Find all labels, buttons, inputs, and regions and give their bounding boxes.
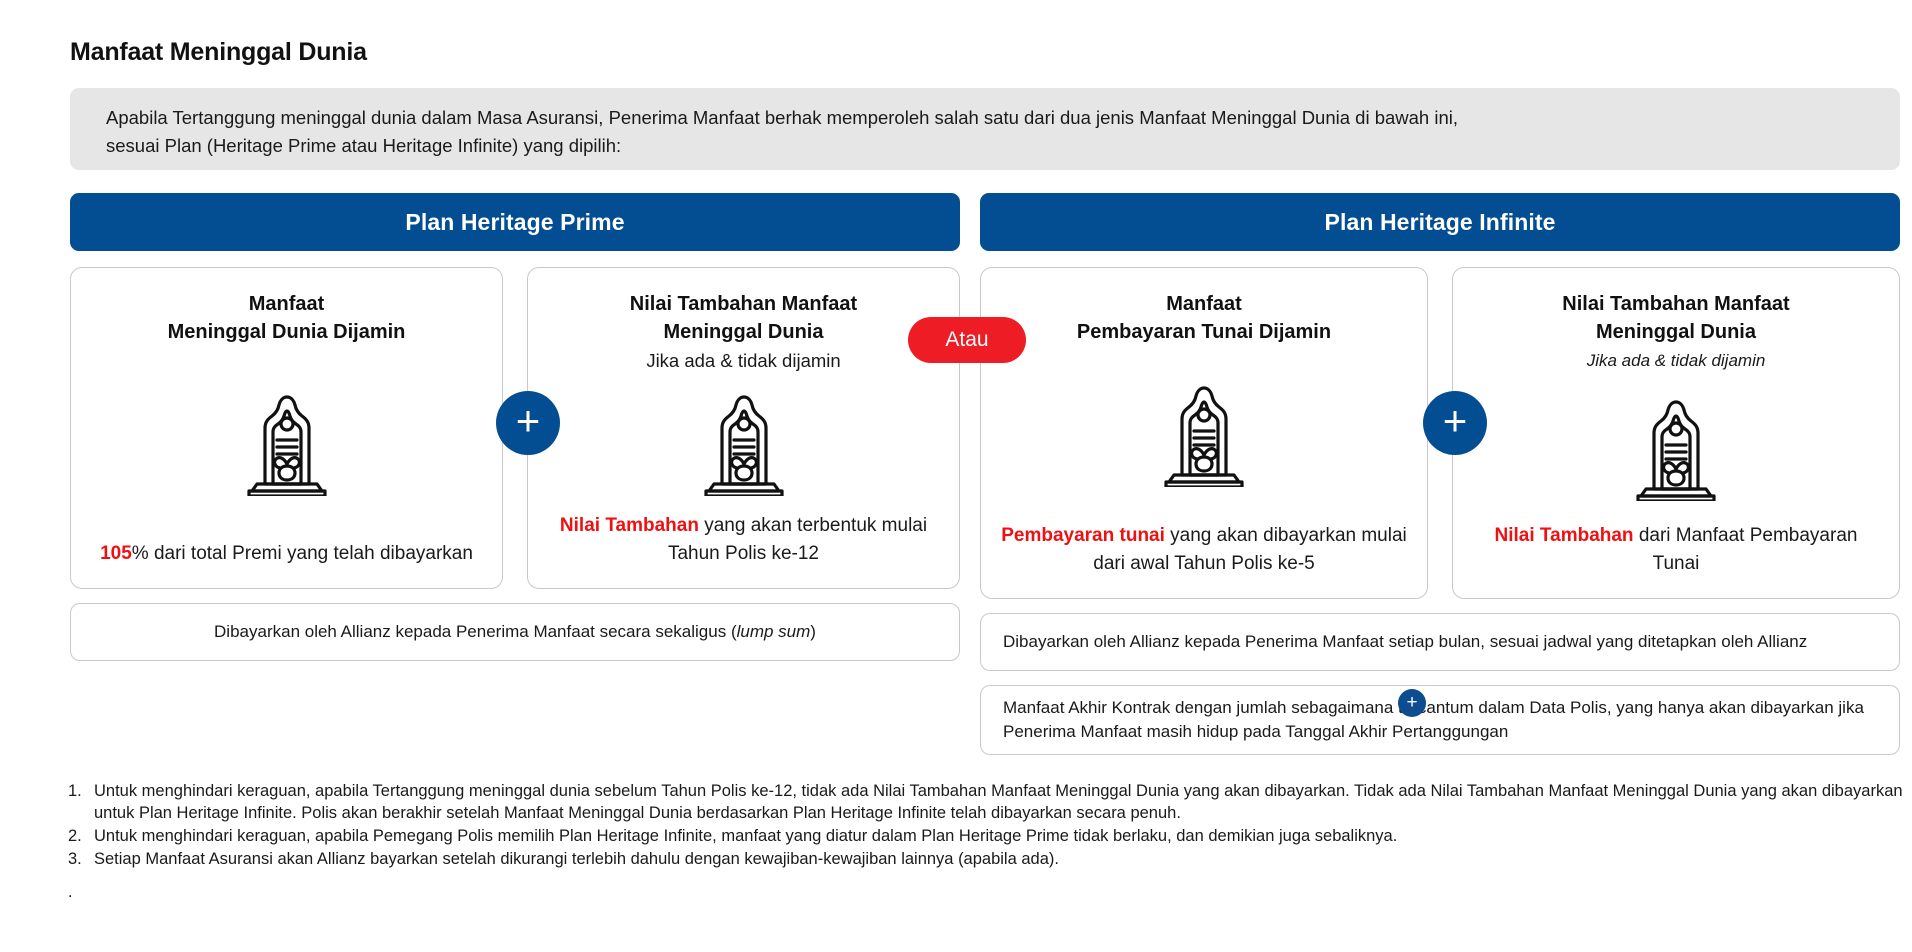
- footnote-text: Untuk menghindari keraguan, apabila Tert…: [94, 780, 1908, 824]
- note-text: Manfaat Akhir Kontrak dengan jumlah seba…: [1003, 696, 1877, 744]
- trailing-dot: .: [68, 881, 1908, 903]
- note-text: Dibayarkan oleh Allianz kepada Penerima …: [1003, 630, 1807, 654]
- benefit-card-additional-value-infinite[interactable]: Nilai Tambahan Manfaat Meninggal Dunia J…: [1452, 267, 1900, 599]
- intro-line-2: sesuai Plan (Heritage Prime atau Heritag…: [106, 132, 1866, 160]
- card-title: Manfaat Meninggal Dunia Dijamin: [168, 290, 406, 346]
- card-text-highlight: Pembayaran tunai: [1001, 525, 1165, 546]
- mini-plus-badge: +: [1398, 689, 1426, 717]
- card-text: Nilai Tambahan yang akan terbentuk mulai…: [546, 512, 941, 568]
- card-subtitle: Jika ada & tidak dijamin: [646, 348, 840, 374]
- tombstone-icon: [700, 392, 788, 496]
- note-box-prime-1: Dibayarkan oleh Allianz kepada Penerima …: [70, 603, 960, 661]
- benefit-card-guaranteed-death[interactable]: Manfaat Meninggal Dunia Dijamin: [70, 267, 503, 589]
- benefit-infographic-page: Manfaat Meninggal Dunia Apabila Tertangg…: [0, 0, 1912, 952]
- plans-container: Plan Heritage Prime Manfaat Meninggal Du…: [70, 193, 1900, 755]
- card-text-rest: % dari total Premi yang telah dibayarkan: [132, 543, 473, 564]
- card-text-highlight: Nilai Tambahan: [560, 515, 699, 536]
- benefit-card-guaranteed-cash[interactable]: Manfaat Pembayaran Tunai Dijamin: [980, 267, 1428, 599]
- plus-symbol: +: [1406, 693, 1417, 712]
- plus-symbol: +: [1443, 400, 1468, 442]
- plan-column-infinite: Plan Heritage Infinite Manfaat Pembayara…: [980, 193, 1900, 755]
- tombstone-icon-wrap: [243, 346, 331, 540]
- note-box-infinite-1: Dibayarkan oleh Allianz kepada Penerima …: [980, 613, 1900, 671]
- card-text-rest: dari Manfaat Pembayaran Tunai: [1634, 525, 1858, 574]
- cards-row-prime: Manfaat Meninggal Dunia Dijamin: [70, 267, 960, 589]
- footnote-number: 2.: [68, 825, 94, 847]
- footnotes: 1. Untuk menghindari keraguan, apabila T…: [68, 780, 1908, 903]
- intro-banner: Apabila Tertanggung meninggal dunia dala…: [70, 88, 1900, 170]
- note-text: Dibayarkan oleh Allianz kepada Penerima …: [214, 620, 816, 644]
- note-text-after: ): [810, 622, 816, 641]
- plus-badge-infinite: +: [1423, 391, 1487, 455]
- tombstone-icon: [1160, 383, 1248, 487]
- plan-header-infinite: Plan Heritage Infinite: [980, 193, 1900, 251]
- benefit-card-additional-value-prime[interactable]: Nilai Tambahan Manfaat Meninggal Dunia J…: [527, 267, 960, 589]
- atau-label: Atau: [945, 328, 988, 352]
- tombstone-icon: [1632, 397, 1720, 501]
- card-text-highlight: 105: [100, 543, 132, 564]
- footnote-number: 3.: [68, 848, 94, 870]
- footnote-item: 1. Untuk menghindari keraguan, apabila T…: [68, 780, 1908, 824]
- card-text: 105% dari total Premi yang telah dibayar…: [100, 540, 473, 568]
- plan-header-prime: Plan Heritage Prime: [70, 193, 960, 251]
- tombstone-icon-wrap: [1160, 346, 1248, 522]
- card-subtitle: Jika ada & tidak dijamin: [1587, 348, 1766, 374]
- notes-stack-infinite: Dibayarkan oleh Allianz kepada Penerima …: [980, 613, 1900, 755]
- plan-column-prime: Plan Heritage Prime Manfaat Meninggal Du…: [70, 193, 960, 755]
- card-text-highlight: Nilai Tambahan: [1495, 525, 1634, 546]
- footnote-text: Setiap Manfaat Asuransi akan Allianz bay…: [94, 848, 1908, 870]
- tombstone-icon: [243, 392, 331, 496]
- plus-badge-prime: +: [496, 391, 560, 455]
- atau-separator-badge: Atau: [908, 317, 1026, 363]
- card-text: Pembayaran tunai yang akan dibayarkan mu…: [999, 522, 1409, 578]
- card-text-rest: yang akan terbentuk mulai Tahun Polis ke…: [668, 515, 927, 564]
- card-text: Nilai Tambahan dari Manfaat Pembayaran T…: [1471, 522, 1881, 578]
- intro-line-1: Apabila Tertanggung meninggal dunia dala…: [106, 104, 1866, 132]
- footnote-text: Untuk menghindari keraguan, apabila Peme…: [94, 825, 1908, 847]
- footnote-item: 2. Untuk menghindari keraguan, apabila P…: [68, 825, 1908, 847]
- note-box-infinite-2: Manfaat Akhir Kontrak dengan jumlah seba…: [980, 685, 1900, 755]
- tombstone-icon-wrap: [700, 374, 788, 512]
- card-title: Manfaat Pembayaran Tunai Dijamin: [1077, 290, 1331, 346]
- plus-symbol: +: [516, 400, 541, 442]
- tombstone-icon-wrap: [1632, 374, 1720, 522]
- note-text-italic: lump sum: [737, 622, 811, 641]
- note-text-before: Dibayarkan oleh Allianz kepada Penerima …: [214, 622, 737, 641]
- card-title: Nilai Tambahan Manfaat Meninggal Dunia: [1562, 290, 1789, 346]
- card-title: Nilai Tambahan Manfaat Meninggal Dunia: [630, 290, 857, 346]
- page-title: Manfaat Meninggal Dunia: [70, 38, 367, 67]
- cards-row-infinite: Manfaat Pembayaran Tunai Dijamin: [980, 267, 1900, 599]
- footnote-item: 3. Setiap Manfaat Asuransi akan Allianz …: [68, 848, 1908, 870]
- footnote-number: 1.: [68, 780, 94, 824]
